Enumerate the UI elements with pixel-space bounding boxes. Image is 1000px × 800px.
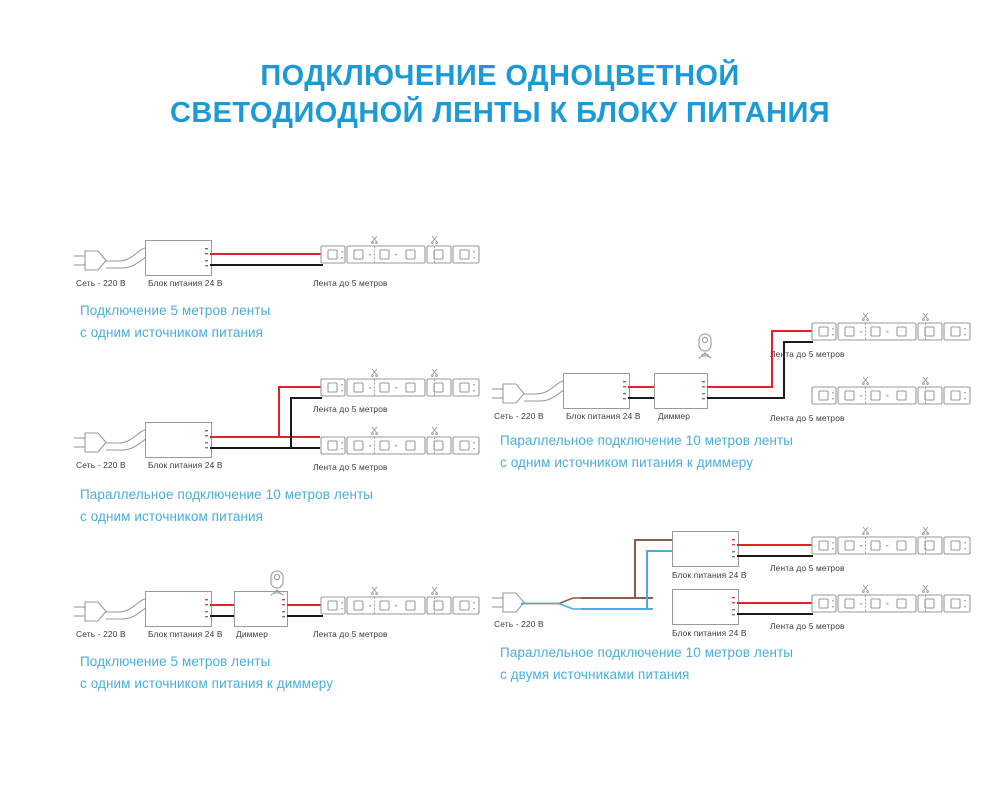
wire-negative-psu-dimmer <box>628 397 656 399</box>
diagram-caption: Подключение 5 метров ленты с одним источ… <box>80 300 440 344</box>
mains-plug-icon <box>74 250 116 276</box>
wire-line-brown-upper <box>634 539 674 541</box>
led-strip <box>321 234 481 270</box>
wire-line-brown-lower <box>581 597 653 599</box>
wire-positive-riser <box>771 330 773 388</box>
label-mains: Сеть - 220 В <box>494 411 544 421</box>
mains-plug-icon <box>74 432 116 458</box>
page-title-line-2: СВЕТОДИОДНОЙ ЛЕНТЫ К БЛОКУ ПИТАНИЯ <box>0 95 1000 132</box>
power-supply-box <box>672 531 739 567</box>
wire-positive <box>210 253 323 255</box>
label-dimmer: Диммер <box>658 411 690 421</box>
diagram-caption: Параллельное подключение 10 метров ленты… <box>500 642 910 686</box>
wire-positive-lower <box>210 436 320 438</box>
wire-negative-lower <box>737 613 813 615</box>
remote-control-icon <box>690 334 720 364</box>
led-strip <box>812 583 972 619</box>
mains-plug-icon <box>492 592 534 618</box>
label-strip: Лента до 5 метров <box>313 278 388 288</box>
power-supply-terminals <box>205 245 215 273</box>
label-strip-upper: Лента до 5 метров <box>313 404 388 414</box>
label-psu: Блок питания 24 В <box>148 278 223 288</box>
mains-cable <box>522 378 582 410</box>
wire-positive-upper <box>737 544 813 546</box>
wire-positive-lower <box>707 386 772 388</box>
wire-negative-upper <box>737 555 813 557</box>
power-supply-terminals <box>205 596 215 624</box>
label-psu: Блок питания 24 В <box>148 460 223 470</box>
mains-plug-icon <box>492 383 534 409</box>
wire-line-blue-upper <box>646 550 674 552</box>
wire-positive-upper <box>278 386 322 388</box>
label-strip-upper: Лента до 5 метров <box>770 349 845 359</box>
label-psu-upper: Блок питания 24 В <box>672 570 747 580</box>
wire-negative-upper <box>783 341 813 343</box>
remote-control-icon <box>262 571 292 599</box>
wire-negative-dimmer-strip <box>287 615 323 617</box>
page-title-line-1: ПОДКЛЮЧЕНИЕ ОДНОЦВЕТНОЙ <box>0 58 1000 95</box>
wire-negative-riser <box>290 397 292 449</box>
wire-positive-psu-dimmer <box>210 604 236 606</box>
label-strip-lower: Лента до 5 метров <box>770 621 845 631</box>
ac-split-cable <box>521 596 583 616</box>
wire-negative-psu-dimmer <box>210 615 236 617</box>
wire-line-blue-riser <box>646 550 648 609</box>
diagram-caption: Параллельное подключение 10 метров ленты… <box>80 484 480 528</box>
wire-negative-lower <box>707 397 784 399</box>
label-strip: Лента до 5 метров <box>313 629 388 639</box>
wire-line-blue-lower <box>581 608 653 610</box>
power-supply-terminals <box>623 378 633 406</box>
diagram-page: ПОДКЛЮЧЕНИЕ ОДНОЦВЕТНОЙ СВЕТОДИОДНОЙ ЛЕН… <box>0 0 1000 800</box>
wire-positive-riser <box>278 386 280 438</box>
dimmer-terminals <box>282 596 292 624</box>
power-supply-terminals <box>732 594 742 622</box>
page-title: ПОДКЛЮЧЕНИЕ ОДНОЦВЕТНОЙ СВЕТОДИОДНОЙ ЛЕН… <box>0 58 1000 132</box>
wire-negative <box>210 264 323 266</box>
wire-positive-lower <box>737 602 813 604</box>
wire-negative-upper <box>290 397 322 399</box>
led-strip <box>321 425 481 461</box>
power-supply-terminals <box>732 536 742 564</box>
power-supply-box <box>563 373 630 409</box>
diagram-caption: Подключение 5 метров ленты с одним источ… <box>80 651 480 695</box>
diagram-caption: Параллельное подключение 10 метров ленты… <box>500 430 910 474</box>
wire-positive-upper <box>771 330 813 332</box>
mains-cable <box>104 427 164 459</box>
power-supply-terminals <box>205 427 215 455</box>
led-strip <box>812 375 972 411</box>
wire-positive-dimmer-strip <box>287 604 323 606</box>
label-psu-lower: Блок питания 24 В <box>672 628 747 638</box>
mains-plug-icon <box>74 601 116 627</box>
led-strip <box>812 311 972 347</box>
mains-cable <box>104 245 164 277</box>
power-supply-box <box>145 422 212 458</box>
wire-positive-psu-dimmer <box>628 386 656 388</box>
label-strip-lower: Лента до 5 метров <box>770 413 845 423</box>
label-strip-upper: Лента до 5 метров <box>770 563 845 573</box>
label-mains: Сеть - 220 В <box>76 460 126 470</box>
led-strip <box>321 585 481 621</box>
led-strip <box>812 525 972 561</box>
dimmer-box <box>654 373 708 409</box>
wire-negative-lower <box>210 447 320 449</box>
power-supply-box <box>672 589 739 625</box>
label-mains: Сеть - 220 В <box>76 629 126 639</box>
label-strip-lower: Лента до 5 метров <box>313 462 388 472</box>
dimmer-box <box>234 591 288 627</box>
label-mains: Сеть - 220 В <box>76 278 126 288</box>
label-dimmer: Диммер <box>236 629 268 639</box>
label-mains: Сеть - 220 В <box>494 619 544 629</box>
wire-line-brown-riser <box>634 539 636 598</box>
power-supply-box <box>145 240 212 276</box>
dimmer-terminals <box>702 378 712 406</box>
power-supply-box <box>145 591 212 627</box>
led-strip <box>321 367 481 403</box>
mains-cable <box>104 596 164 628</box>
label-psu: Блок питания 24 В <box>566 411 641 421</box>
label-psu: Блок питания 24 В <box>148 629 223 639</box>
wire-negative-riser <box>783 341 785 399</box>
